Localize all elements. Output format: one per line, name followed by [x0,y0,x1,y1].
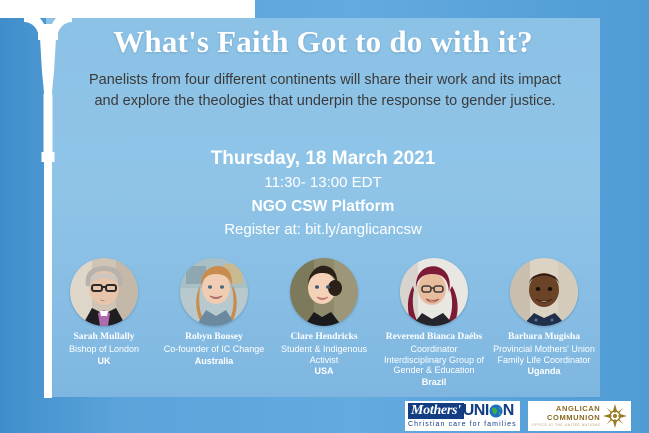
panelist-country: Australia [195,356,234,367]
union-text: UNI [463,403,489,419]
top-white-bar [0,0,255,18]
panelist-name: Clare Hendricks [290,332,357,343]
avatar [290,258,358,326]
event-platform: NGO CSW Platform [46,198,600,216]
anglican-compass-rose-icon [603,404,627,428]
register-link[interactable]: Register at: bit.ly/anglicancsw [46,221,600,238]
panelist-country: Brazil [422,377,447,388]
page-title: What's Faith Got to do with it? [46,24,600,60]
globe-icon [489,404,503,418]
panelist-name: Barbara Mugisha [508,332,580,343]
panelist-name: Sarah Mullally [74,332,135,343]
panelist-role: Provincial Mothers' Union Family Life Co… [492,344,596,365]
anglican-line3: OFFICE AT THE UNITED NATIONS [532,422,601,428]
avatar [400,258,468,326]
mothers-union-wordmark-mothers: Mothers' [408,403,464,419]
avatar [510,258,578,326]
event-poster: What's Faith Got to do with it? Panelist… [0,0,649,433]
event-date: Thursday, 18 March 2021 [46,148,600,170]
avatar [180,258,248,326]
panelist-name: Reverend Bianca Daébs [386,332,482,343]
union-text-tail: N [503,403,514,419]
panelist-name: Robyn Boosey [185,332,243,343]
anglican-line1: ANGLICAN [556,404,600,413]
panelist-country: USA [314,366,333,377]
mothers-union-tagline: Christian care for families [408,420,517,429]
panelist-card: Robyn Boosey Co-founder of IC Change Aus… [162,258,266,367]
panelist-card: Sarah Mullally Bishop of London UK [52,258,156,367]
panelist-list: Sarah Mullally Bishop of London UK [52,258,596,388]
panelist-role: Coordinator Interdisciplinary Group of G… [382,344,486,376]
anglican-line2: COMMUNION [547,413,600,422]
anglican-communion-logo: ANGLICAN COMMUNION OFFICE AT THE UNITED … [528,401,632,431]
avatar [70,258,138,326]
mothers-union-wordmark-union: UNI N [463,403,514,419]
panelist-country: Uganda [527,366,560,377]
event-time: 11:30- 13:00 EDT [46,174,600,191]
panelist-card: Reverend Bianca Daébs Coordinator Interd… [382,258,486,388]
panelist-role: Student & Indigenous Activist [272,344,376,365]
panelist-card: Barbara Mugisha Provincial Mothers' Unio… [492,258,596,377]
mothers-union-logo: Mothers' UNI N Christian care for famili… [405,401,520,431]
panelist-country: UK [98,356,111,367]
poster-description: Panelists from four different continents… [80,70,570,112]
panelist-role: Bishop of London [69,344,139,355]
panelist-card: Clare Hendricks Student & Indigenous Act… [272,258,376,377]
panelist-role: Co-founder of IC Change [164,344,265,355]
logo-bar: Mothers' UNI N Christian care for famili… [405,401,631,431]
